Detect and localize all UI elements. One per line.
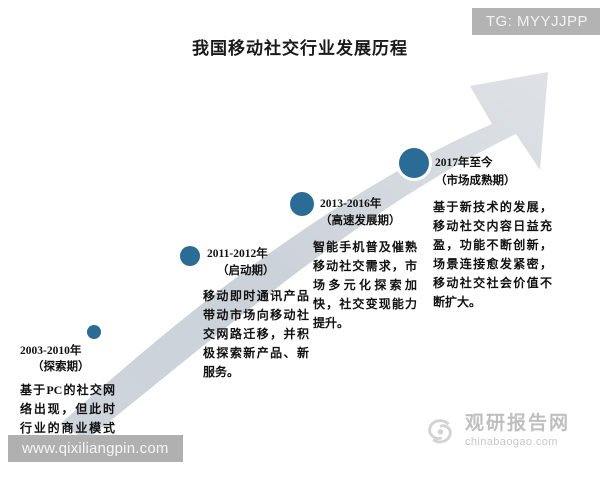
milestone-dot-3 — [290, 192, 314, 216]
milestone-period-3: 2013-2016年 — [320, 196, 381, 212]
milestone-dot-4 — [399, 148, 429, 178]
milestone-dot-1 — [87, 325, 101, 339]
milestone-period-4: 2017年至今 — [435, 155, 493, 171]
logo-name-cn: 观研报告网 — [465, 414, 570, 433]
brand-logo: 观研报告网 chinabaogao.com — [423, 414, 570, 448]
site-url-watermark: www.qixiliangpin.com — [8, 435, 183, 462]
milestone-period-1: 2003-2010年 — [20, 343, 81, 359]
milestone-stage-1: （探索期） — [32, 359, 90, 375]
milestone-stage-2: （启动期） — [217, 263, 275, 279]
telegram-watermark: TG: MYYJJPP — [472, 8, 600, 35]
milestone-stage-3: （高速发展期） — [320, 213, 401, 229]
milestone-stage-4: （市场成熟期） — [435, 173, 516, 189]
milestone-description-2: 移动即时通讯产品带动市场向移动社交网路迁移，并积极探索新产品、新服务。 — [203, 287, 309, 382]
logo-text-group: 观研报告网 chinabaogao.com — [465, 414, 570, 448]
page-title: 我国移动社交行业发展历程 — [0, 34, 600, 59]
milestone-period-2: 2011-2012年 — [207, 246, 268, 262]
milestone-description-3: 智能手机普及催熟移动社交需求，市场多元化探索加快，社交变现能力提升。 — [313, 238, 417, 333]
infographic-canvas: 我国移动社交行业发展历程 2003-2010年 （探索期） 基于PC的社交网络出… — [0, 0, 600, 480]
logo-name-en: chinabaogao.com — [465, 437, 570, 448]
spiral-logo-icon — [423, 414, 457, 448]
milestone-dot-2 — [180, 246, 200, 266]
milestone-description-4: 基于新技术的发展，移动社交内容日益充盈，功能不断创新，场景连接愈发紧密，移动社交… — [433, 198, 552, 312]
